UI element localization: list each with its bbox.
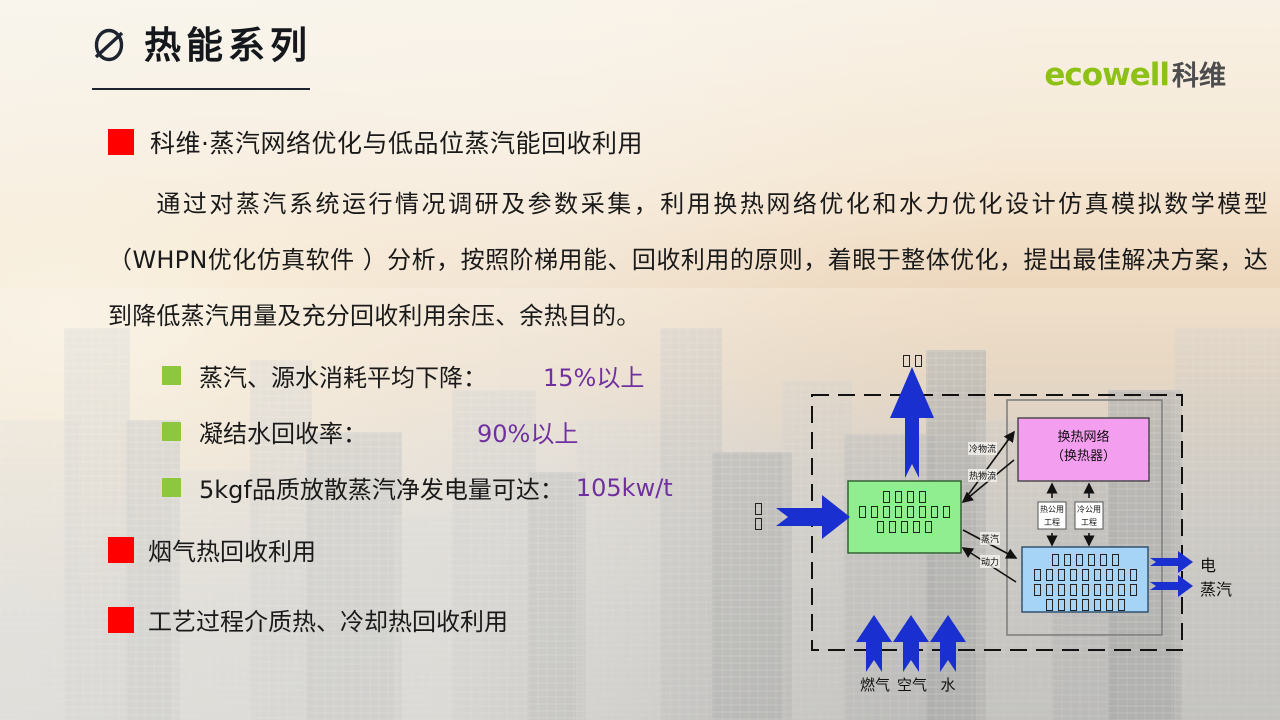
sub-bullet-process-heat: 工艺过程介质热、冷却热回收利用 — [108, 602, 508, 637]
metric-value: 15%以上 — [543, 358, 644, 393]
hen-label-line1: 换热网络 — [1018, 428, 1149, 447]
logo-chinese-text: 科维 — [1172, 63, 1226, 90]
glyph-row — [752, 500, 764, 515]
glyph-row — [848, 518, 961, 533]
cold-utility-line1: 冷公用 — [1075, 503, 1103, 516]
ecowell-logo: ecowell 科维 — [1044, 60, 1226, 91]
hen-label-line2: （换热器） — [1018, 447, 1149, 466]
slashed-circle-icon — [90, 26, 128, 64]
slide-header: 热能系列 — [90, 26, 312, 64]
metric-row-condensate: 凝结水回收率： 90%以上 — [162, 414, 578, 449]
glyph-row — [848, 488, 961, 503]
metric-label: 5kgf品质放散蒸汽净发电量可达： — [199, 470, 564, 505]
logo-latin-text: ecowell — [1044, 60, 1169, 91]
glyph-row — [1022, 566, 1148, 581]
input-label-water: 水 — [933, 674, 963, 695]
output-label-steam: 蒸汽 — [1200, 576, 1232, 600]
input-label-air: 空气 — [892, 674, 932, 695]
metric-row-steam-water: 蒸汽、源水消耗平均下降： 15%以上 — [162, 358, 644, 393]
glyph-row — [1022, 596, 1148, 611]
hen-box-label: 换热网络 （换热器） — [1018, 428, 1149, 466]
body-paragraph: 通过对蒸汽系统运行情况调研及参数采集，利用换热网络优化和水力优化设计仿真模拟数学… — [108, 176, 1268, 344]
paragraph-text: 通过对蒸汽系统运行情况调研及参数采集，利用换热网络优化和水力优化设计仿真模拟数学… — [108, 190, 1268, 330]
hot-utility-tag-label: 热公用 工程 — [1038, 503, 1066, 529]
stream-label-power: 动力 — [980, 555, 1000, 568]
red-square-bullet-icon — [108, 537, 134, 563]
stream-label-steam: 蒸汽 — [980, 532, 1000, 545]
hot-utility-line1: 热公用 — [1038, 503, 1066, 516]
sub-bullet-text: 烟气热回收利用 — [148, 532, 316, 567]
glyph-row — [1022, 551, 1148, 566]
water-input-arrow — [930, 615, 966, 672]
diagram-canvas — [750, 350, 1280, 720]
hot-utility-line2: 工程 — [1038, 516, 1066, 529]
metric-row-power-generation: 5kgf品质放散蒸汽净发电量可达： 105kw/t — [162, 470, 673, 505]
glyph-row — [752, 515, 764, 530]
glyph-row — [1022, 581, 1148, 596]
metric-value: 90%以上 — [477, 414, 578, 449]
fuel-gas-input-arrow — [856, 615, 892, 672]
metric-label: 凝结水回收率： — [199, 414, 367, 449]
headline-text: 科维·蒸汽网络优化与低品位蒸汽能回收利用 — [150, 124, 643, 160]
stream-label-cold: 冷物流 — [968, 442, 997, 455]
header-underline — [92, 88, 310, 90]
process-unit-glyphs — [848, 488, 961, 533]
green-square-bullet-icon — [162, 366, 181, 385]
output-label-electricity: 电 — [1200, 552, 1216, 576]
sub-bullet-flue-gas: 烟气热回收利用 — [108, 532, 316, 567]
page-title: 热能系列 — [144, 27, 312, 64]
utility-plant-glyphs — [1022, 551, 1148, 611]
raw-material-input-arrow — [776, 495, 850, 539]
stream-label-hot: 热物流 — [968, 469, 997, 482]
red-square-bullet-icon — [108, 129, 134, 155]
headline-row: 科维·蒸汽网络优化与低品位蒸汽能回收利用 — [108, 124, 643, 160]
air-input-arrow — [893, 615, 929, 672]
raw-material-input-glyphs — [752, 500, 764, 530]
sub-bullet-text: 工艺过程介质热、冷却热回收利用 — [148, 602, 508, 637]
glyph-row — [848, 503, 961, 518]
steam-output-arrow — [1150, 575, 1193, 597]
metric-value: 105kw/t — [576, 474, 673, 502]
input-label-fuel-gas: 燃气 — [855, 674, 895, 695]
green-square-bullet-icon — [162, 422, 181, 441]
product-output-arrow — [890, 367, 934, 478]
product-output-glyphs — [890, 352, 935, 367]
green-square-bullet-icon — [162, 478, 181, 497]
electricity-output-arrow — [1150, 551, 1193, 573]
process-system-diagram: 换热网络 （换热器） 热公用 工程 冷公用 工程 冷物流 热物流 蒸汽 动力 燃… — [750, 350, 1280, 720]
cold-utility-line2: 工程 — [1075, 516, 1103, 529]
red-square-bullet-icon — [108, 607, 134, 633]
metric-label: 蒸汽、源水消耗平均下降： — [199, 358, 487, 393]
cold-utility-tag-label: 冷公用 工程 — [1075, 503, 1103, 529]
